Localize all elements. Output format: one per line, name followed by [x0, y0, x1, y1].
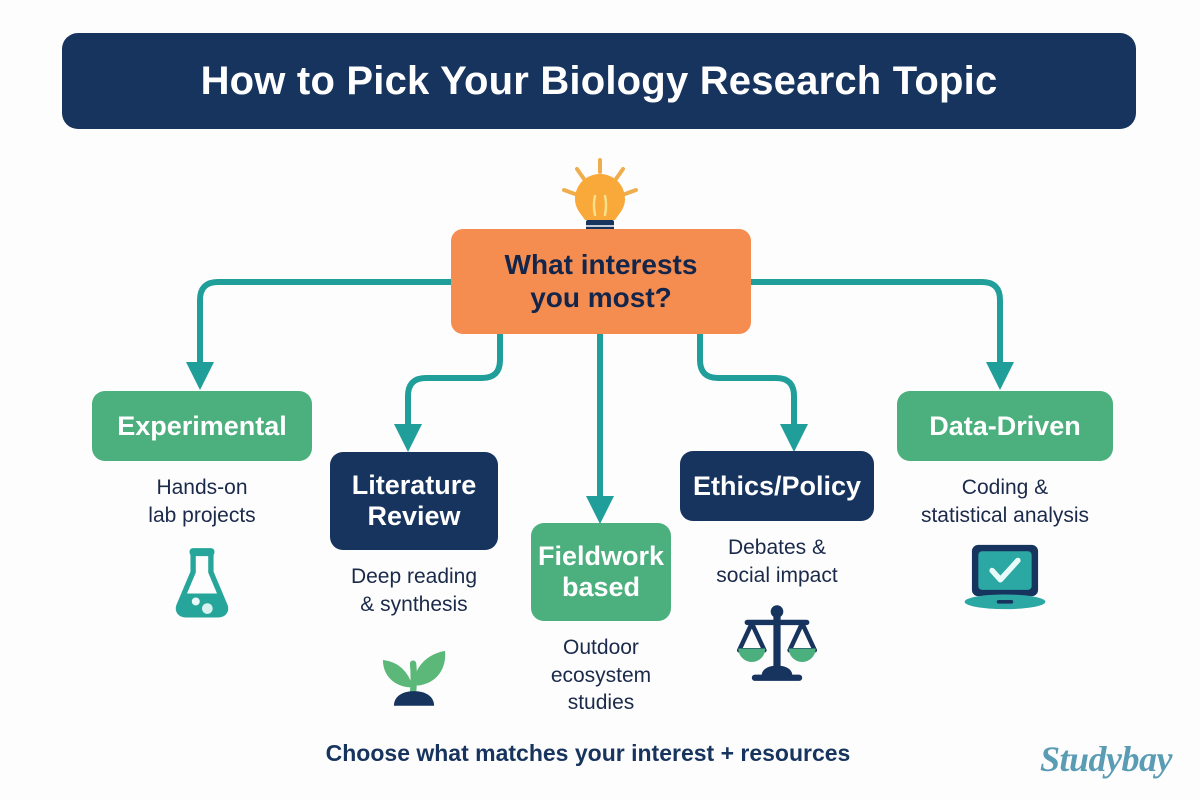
- branch-literature-pill[interactable]: Literature Review: [330, 452, 498, 550]
- studybay-logo[interactable]: Studybay: [1040, 738, 1172, 780]
- arrowhead-experimental: [186, 362, 214, 390]
- branch-ethics-caption: Debates & social impact: [716, 534, 837, 589]
- scales-icon: [732, 603, 822, 685]
- arrowhead-data: [986, 362, 1014, 390]
- flask-icon: [170, 543, 234, 619]
- arrowhead-literature: [394, 424, 422, 452]
- central-question-text: What interests you most?: [505, 249, 698, 314]
- caption-line-2: & synthesis: [360, 593, 467, 616]
- lightbulb-icon: [557, 158, 643, 240]
- branch-data-driven[interactable]: Data-Driven Coding & statistical analysi…: [880, 391, 1130, 611]
- connector-data: [751, 282, 1000, 368]
- caption-line-1: Coding &: [962, 476, 1048, 499]
- laptop-icon: [957, 543, 1053, 611]
- branch-fieldwork-label: Fieldwork based: [538, 541, 664, 603]
- caption-line-1: Debates &: [728, 536, 826, 559]
- caption-line-2: social impact: [716, 564, 837, 587]
- branch-literature-label: Literature Review: [352, 470, 477, 532]
- caption-line-2: lab projects: [148, 504, 255, 527]
- branch-experimental-pill[interactable]: Experimental: [92, 391, 312, 461]
- caption-line-1: Deep reading: [351, 565, 477, 588]
- caption-line-3: studies: [568, 691, 635, 714]
- branch-data-pill[interactable]: Data-Driven: [897, 391, 1113, 461]
- question-line-1: What interests: [505, 249, 698, 280]
- branch-data-caption: Coding & statistical analysis: [921, 474, 1089, 529]
- caption-line-1: Hands-on: [156, 476, 247, 499]
- seedling-icon: [372, 632, 456, 710]
- label-line-2: Review: [367, 501, 460, 531]
- label-line-1: Fieldwork: [538, 541, 664, 571]
- arrowhead-ethics: [780, 424, 808, 452]
- branch-experimental[interactable]: Experimental Hands-on lab projects: [62, 391, 342, 619]
- page-title: How to Pick Your Biology Research Topic: [201, 59, 998, 103]
- infographic-canvas: How to Pick Your Biology Research Topic: [0, 0, 1200, 800]
- connector-ethics: [700, 334, 794, 430]
- branch-ethics-policy[interactable]: Ethics/Policy Debates & social impact: [662, 451, 892, 685]
- branch-fieldwork-caption: Outdoor ecosystem studies: [551, 634, 651, 717]
- branch-experimental-caption: Hands-on lab projects: [148, 474, 255, 529]
- question-line-2: you most?: [530, 282, 672, 313]
- footer-note: Choose what matches your interest + reso…: [278, 740, 898, 767]
- caption-line-2: statistical analysis: [921, 504, 1089, 527]
- caption-line-2: ecosystem: [551, 664, 651, 687]
- branch-literature-review[interactable]: Literature Review Deep reading & synthes…: [305, 452, 523, 710]
- central-question-node[interactable]: What interests you most?: [451, 229, 751, 334]
- branch-data-label: Data-Driven: [929, 411, 1081, 442]
- header-banner: How to Pick Your Biology Research Topic: [62, 33, 1136, 129]
- connector-literature: [408, 334, 500, 430]
- label-line-2: based: [562, 572, 640, 602]
- arrowhead-fieldwork: [586, 496, 614, 524]
- branch-ethics-label: Ethics/Policy: [693, 471, 861, 502]
- connector-experimental: [200, 282, 451, 368]
- branch-fieldwork-pill[interactable]: Fieldwork based: [531, 523, 671, 621]
- caption-line-1: Outdoor: [563, 636, 639, 659]
- branch-literature-caption: Deep reading & synthesis: [351, 563, 477, 618]
- label-line-1: Literature: [352, 470, 477, 500]
- branch-ethics-pill[interactable]: Ethics/Policy: [680, 451, 874, 521]
- branch-experimental-label: Experimental: [117, 411, 287, 442]
